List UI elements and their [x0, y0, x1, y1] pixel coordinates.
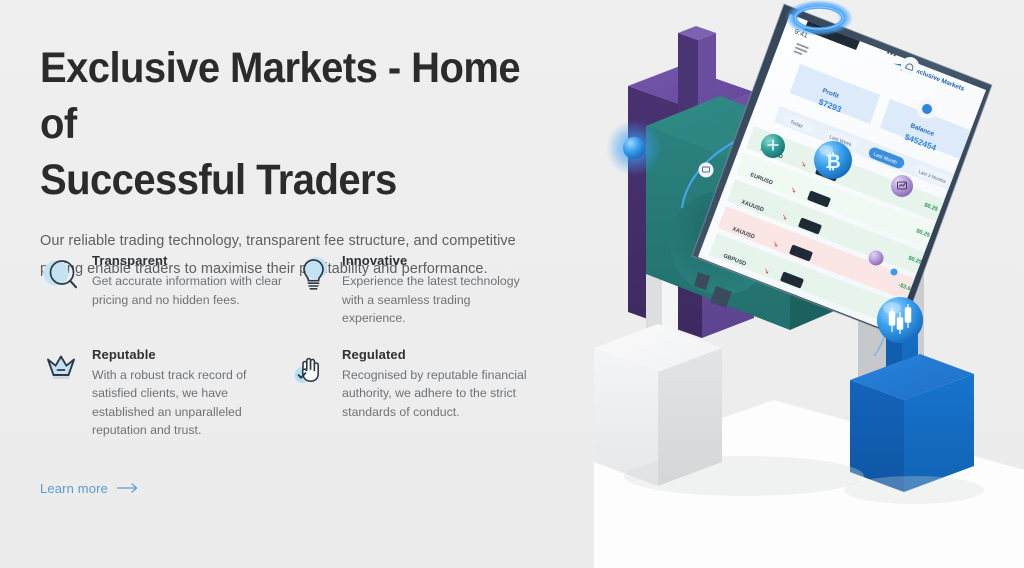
arrow-right-icon	[117, 481, 139, 496]
bitcoin-symbol: ₿	[825, 152, 840, 173]
candlestick-orb	[877, 297, 923, 343]
filter-chip-custom	[957, 181, 985, 201]
pledge-hand-icon	[290, 348, 332, 390]
feature-title: Innovative	[342, 252, 520, 270]
bitcoin-orb: ₿	[814, 141, 852, 179]
hero-illustration: 9:41	[594, 0, 1024, 568]
learn-more-label: Learn more	[40, 481, 108, 496]
feature-title: Regulated	[342, 346, 527, 364]
message-orb	[699, 163, 714, 178]
feature-description: With a robust track record of satisfied …	[92, 366, 246, 440]
feature-description: Recognised by reputable financial author…	[342, 366, 527, 422]
feature-grid: Transparent Get accurate information wit…	[40, 250, 560, 456]
feature-description: Experience the latest technology with a …	[342, 272, 520, 328]
feature-title: Reputable	[92, 346, 246, 364]
cube-shadow	[624, 456, 864, 496]
crown-icon	[40, 348, 82, 390]
purple-orb	[891, 175, 913, 197]
learn-more-link[interactable]: Learn more	[40, 481, 139, 496]
feature-regulated: Regulated Recognised by reputable financ…	[290, 344, 540, 456]
feature-title: Transparent	[92, 252, 282, 270]
blue-halo-ring	[785, 0, 853, 36]
magnifier-icon	[40, 254, 82, 296]
feature-transparent: Transparent Get accurate information wit…	[40, 250, 290, 344]
small-blue-dot	[891, 269, 898, 276]
hero-section: Exclusive Markets - Home of Successful T…	[0, 0, 1024, 568]
feature-innovative: Innovative Experience the latest technol…	[290, 250, 540, 344]
lightbulb-icon	[290, 254, 332, 296]
teal-orb	[761, 134, 785, 158]
feature-reputable: Reputable With a robust track record of …	[40, 344, 290, 456]
blue-cube	[850, 354, 974, 492]
page-title: Exclusive Markets - Home of Successful T…	[40, 40, 524, 208]
feature-description: Get accurate information with clear pric…	[92, 272, 282, 309]
small-purple-dot	[869, 251, 884, 266]
hero-copy: Exclusive Markets - Home of Successful T…	[40, 40, 560, 283]
svg-text:Custom: Custom	[962, 187, 980, 199]
